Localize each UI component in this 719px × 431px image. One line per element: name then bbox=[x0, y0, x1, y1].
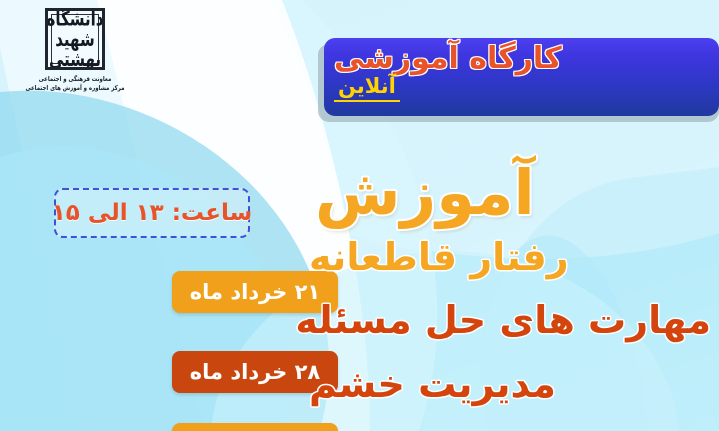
time-text: ساعت: ۱۳ الی ۱۵ bbox=[52, 200, 253, 226]
time-box: ساعت: ۱۳ الی ۱۵ bbox=[54, 188, 250, 238]
banner-title: کارگاه آموزشی bbox=[334, 40, 562, 78]
main-titles: آموزش رفتار قاطعانه مهارت های حل مسئله م… bbox=[291, 160, 711, 409]
topic-line-assertive-behavior: رفتار قاطعانه bbox=[291, 233, 711, 282]
university-logo-caption-line2: مرکز مشاوره و آموزش های اجتماعی bbox=[16, 84, 134, 94]
university-logo: دانشگاه شهید بهشتی معاونت فرهنگی و اجتما… bbox=[16, 8, 134, 94]
date-badge: ۴ تیر ماه bbox=[172, 423, 338, 431]
topic-line-problem-solving: مهارت های حل مسئله bbox=[291, 296, 711, 345]
banner-subtitle-online: آنلاین bbox=[334, 74, 400, 102]
university-logo-mark: دانشگاه شهید بهشتی bbox=[45, 8, 105, 70]
university-logo-script: دانشگاه شهید بهشتی bbox=[48, 8, 102, 70]
header-banner: کارگاه آموزشی آنلاین bbox=[324, 38, 719, 116]
poster-canvas: دانشگاه شهید بهشتی معاونت فرهنگی و اجتما… bbox=[0, 0, 719, 431]
topic-line-fourth: مدیریت خشم bbox=[291, 360, 711, 409]
main-title: آموزش bbox=[291, 160, 711, 225]
